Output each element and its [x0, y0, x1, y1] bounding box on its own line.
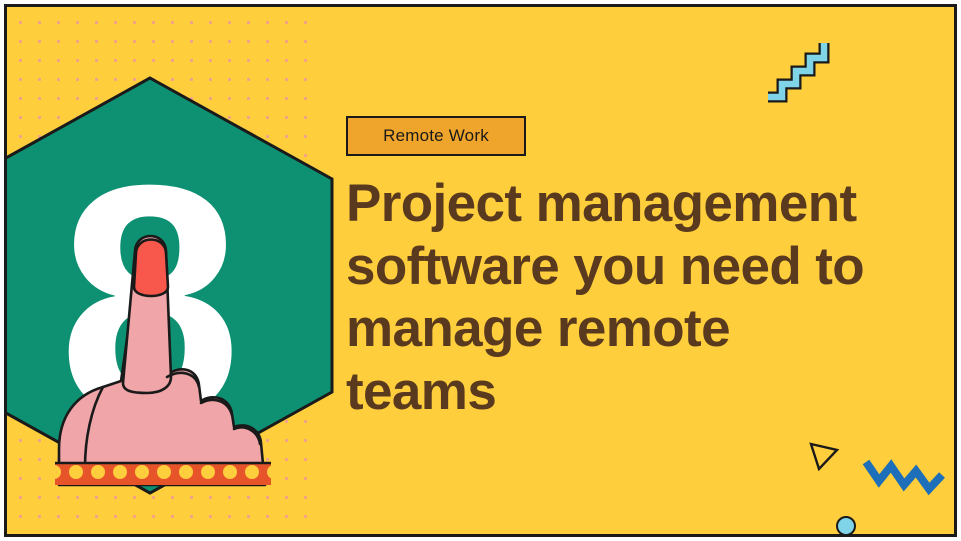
title-line-4: teams — [346, 361, 946, 424]
circle-dot-icon — [833, 513, 859, 537]
title-line-2: software you need to — [346, 236, 946, 299]
triangle-outline-icon — [807, 439, 843, 475]
staircase-zigzag-icon — [764, 29, 844, 109]
wrist-cuff — [55, 463, 271, 485]
page-title: Project management software you need to … — [346, 173, 946, 423]
title-line-3: manage remote — [346, 298, 946, 361]
slide-canvas: 8 — [0, 0, 961, 541]
zigzag-icon — [862, 452, 952, 507]
slide-frame: 8 — [4, 4, 957, 537]
category-badge[interactable]: Remote Work — [346, 116, 526, 156]
hexagon-number-illustration: 8 — [4, 65, 344, 485]
title-line-1: Project management — [346, 173, 946, 236]
